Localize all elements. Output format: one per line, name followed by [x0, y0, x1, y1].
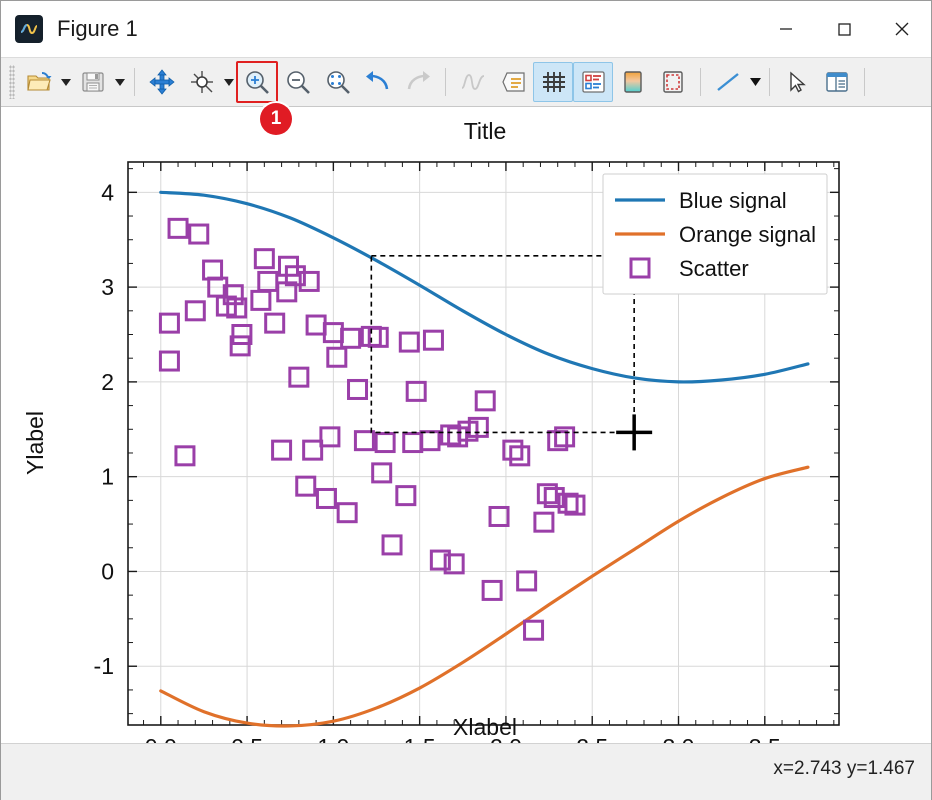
y-tick-label: 4 [101, 179, 114, 205]
subplot-node-icon [189, 69, 215, 95]
window-title: Figure 1 [57, 16, 138, 42]
y-tick-label: 1 [101, 464, 114, 490]
cursor-arrow-icon [785, 70, 809, 94]
toolbar-separator [864, 68, 865, 96]
legend-toggle-button[interactable] [493, 62, 533, 102]
x-tick-label: 3.5 [749, 734, 781, 743]
figure-window: Figure 1 [0, 0, 932, 800]
chevron-down-icon [61, 79, 71, 86]
step-badge-1: 1 [260, 103, 292, 135]
curve-style-button[interactable] [453, 62, 493, 102]
x-axis-label: Xlabel [453, 714, 517, 740]
legend-label: Scatter [679, 256, 749, 281]
side-panel-button[interactable] [817, 62, 857, 102]
save-figure-dropdown[interactable] [113, 63, 127, 101]
magnifier-fit-icon [325, 69, 351, 95]
redo-button[interactable] [398, 62, 438, 102]
maximize-icon [834, 19, 854, 39]
toolbar-separator [134, 68, 135, 96]
grid-toggle-button[interactable] [533, 62, 573, 102]
marquee-icon [661, 70, 685, 94]
window-controls [757, 1, 931, 57]
y-tick-label: 2 [101, 369, 114, 395]
y-tick-label: 0 [101, 558, 114, 584]
minimize-icon [776, 19, 796, 39]
pan-button[interactable] [142, 62, 182, 102]
undo-arrow-icon [365, 70, 391, 94]
x-tick-label: 1.5 [404, 734, 436, 743]
cursor-coordinates: x=2.743 y=1.467 [773, 758, 915, 780]
line-style-button[interactable] [708, 62, 748, 102]
waveform-icon [460, 70, 486, 94]
grid-icon [540, 70, 566, 94]
axes-list-icon [580, 70, 606, 94]
y-tick-label: -1 [94, 653, 114, 679]
magnifier-minus-icon [285, 69, 311, 95]
x-tick-label: 3.0 [663, 734, 695, 743]
open-file-dropdown[interactable] [59, 63, 73, 101]
toolbar-separator [445, 68, 446, 96]
chevron-down-icon [224, 79, 234, 86]
toolbar-separator [769, 68, 770, 96]
status-bar: x=2.743 y=1.467 [1, 743, 931, 800]
x-tick-label: 0.0 [145, 734, 177, 743]
move-arrows-icon [149, 69, 175, 95]
floppy-disk-icon [81, 70, 105, 94]
magnifier-plus-icon [244, 69, 270, 95]
x-tick-label: 2.5 [576, 734, 608, 743]
line-style-dropdown[interactable] [748, 63, 762, 101]
chevron-down-icon [115, 79, 125, 86]
colormap-button[interactable] [613, 62, 653, 102]
figure-waveform-icon [15, 15, 43, 43]
chart-title: Title [464, 118, 507, 144]
close-button[interactable] [873, 1, 931, 57]
maximize-button[interactable] [815, 1, 873, 57]
legend-icon [500, 70, 526, 94]
axes-properties-button[interactable] [573, 62, 613, 102]
zoom-out-button[interactable] [278, 62, 318, 102]
redo-arrow-icon [405, 70, 431, 94]
figure-toolbar [1, 57, 931, 107]
x-tick-label: 0.5 [231, 734, 263, 743]
figure-canvas[interactable]: Title 0.00.51.01.52.02.53.03.5-101234 Bl… [1, 107, 931, 743]
close-icon [892, 19, 912, 39]
toolbar-grip[interactable] [9, 65, 15, 99]
zoom-fit-button[interactable] [318, 62, 358, 102]
minimize-button[interactable] [757, 1, 815, 57]
configure-subplots-dropdown[interactable] [222, 63, 236, 101]
configure-subplots-button[interactable] [182, 62, 222, 102]
region-select-button[interactable] [653, 62, 693, 102]
undo-button[interactable] [358, 62, 398, 102]
zoom-in-button[interactable] [236, 61, 278, 103]
toolbar-separator [700, 68, 701, 96]
legend-label: Blue signal [679, 188, 787, 213]
save-figure-button[interactable] [73, 62, 113, 102]
chevron-down-icon [750, 78, 761, 86]
x-tick-label: 1.0 [317, 734, 349, 743]
matplotlib-axes[interactable]: Title 0.00.51.01.52.02.53.03.5-101234 Bl… [1, 107, 931, 743]
y-axis-label: Ylabel [22, 411, 48, 475]
pointer-button[interactable] [777, 62, 817, 102]
y-tick-label: 3 [101, 274, 114, 300]
chart-legend[interactable]: Blue signalOrange signalScatter [603, 174, 827, 294]
panel-layout-icon [825, 70, 849, 94]
open-file-button[interactable] [19, 62, 59, 102]
folder-open-icon [26, 70, 52, 94]
title-bar: Figure 1 [1, 1, 931, 57]
colormap-icon [621, 70, 645, 94]
diagonal-line-icon [715, 70, 741, 94]
legend-label: Orange signal [679, 222, 816, 247]
